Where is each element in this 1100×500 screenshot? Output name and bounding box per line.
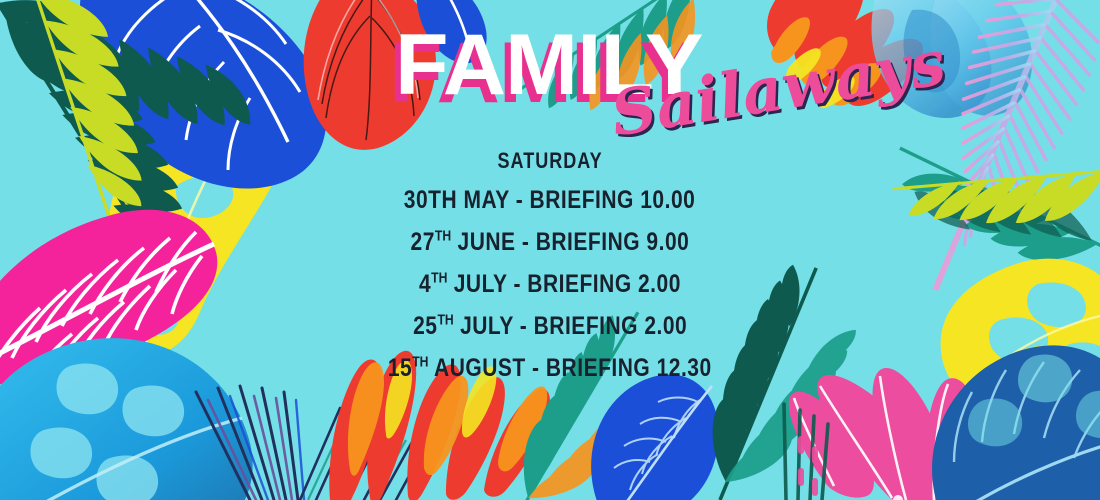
tropical-foliage-artwork: [0, 0, 1100, 500]
poster-canvas: FAMILY Sailaways SATURDAY 30TH MAY - BRI…: [0, 0, 1100, 500]
